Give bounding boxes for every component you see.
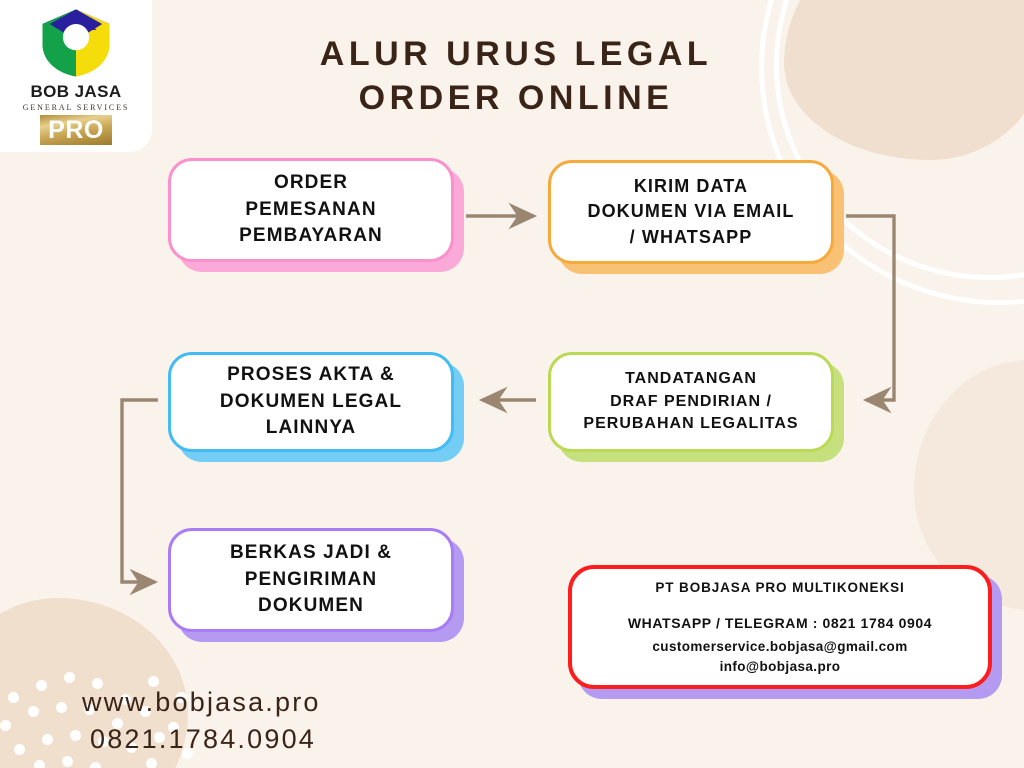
flow-node-tandatangan-label: TANDATANGAN DRAF PENDIRIAN / PERUBAHAN L… <box>548 352 834 452</box>
contact-email-primary[interactable]: customerservice.bobjasa@gmail.com <box>652 637 907 657</box>
flow-node-kirim-data[interactable]: KIRIM DATA DOKUMEN VIA EMAIL / WHATSAPP <box>548 160 834 264</box>
contact-card-body: PT BOBJASA PRO MULTIKONEKSI WHATSAPP / T… <box>568 565 992 689</box>
arrow-kirim-to-tandatangan <box>846 216 894 400</box>
footer-contact: www.bobjasa.pro 0821.1784.0904 <box>82 684 321 759</box>
flow-node-proses-akta-label: PROSES AKTA & DOKUMEN LEGAL LAINNYA <box>168 352 454 452</box>
footer-website[interactable]: www.bobjasa.pro <box>82 684 321 721</box>
contact-whatsapp[interactable]: WHATSAPP / TELEGRAM : 0821 1784 0904 <box>628 614 932 634</box>
contact-email-secondary[interactable]: info@bobjasa.pro <box>720 657 841 677</box>
brand-name: BOB JASA <box>30 82 121 102</box>
flow-node-berkas-jadi-label: BERKAS JADI & PENGIRIMAN DOKUMEN <box>168 528 454 632</box>
page-title: ALUR URUS LEGAL ORDER ONLINE <box>226 32 806 120</box>
arrow-proses-to-berkas <box>122 400 158 582</box>
brand-pro-label: PRO <box>48 118 104 143</box>
flow-node-order[interactable]: ORDER PEMESANAN PEMBAYARAN <box>168 158 454 262</box>
flow-node-kirim-data-label: KIRIM DATA DOKUMEN VIA EMAIL / WHATSAPP <box>548 160 834 264</box>
flow-node-proses-akta[interactable]: PROSES AKTA & DOKUMEN LEGAL LAINNYA <box>168 352 454 452</box>
flow-node-order-label: ORDER PEMESANAN PEMBAYARAN <box>168 158 454 262</box>
contact-company-name: PT BOBJASA PRO MULTIKONEKSI <box>655 578 904 597</box>
brand-pro-badge: PRO <box>40 115 112 145</box>
footer-phone[interactable]: 0821.1784.0904 <box>82 721 321 758</box>
contact-card[interactable]: PT BOBJASA PRO MULTIKONEKSI WHATSAPP / T… <box>568 565 992 689</box>
brand-logo: BOB JASA GENERAL SERVICES PRO <box>0 0 152 152</box>
shield-icon <box>39 8 113 78</box>
flow-node-tandatangan[interactable]: TANDATANGAN DRAF PENDIRIAN / PERUBAHAN L… <box>548 352 834 452</box>
brand-tagline: GENERAL SERVICES <box>23 103 130 112</box>
flow-node-berkas-jadi[interactable]: BERKAS JADI & PENGIRIMAN DOKUMEN <box>168 528 454 632</box>
blob-top-right <box>784 0 1024 160</box>
page-title-line-2: ORDER ONLINE <box>226 76 806 120</box>
page-title-line-1: ALUR URUS LEGAL <box>226 32 806 76</box>
